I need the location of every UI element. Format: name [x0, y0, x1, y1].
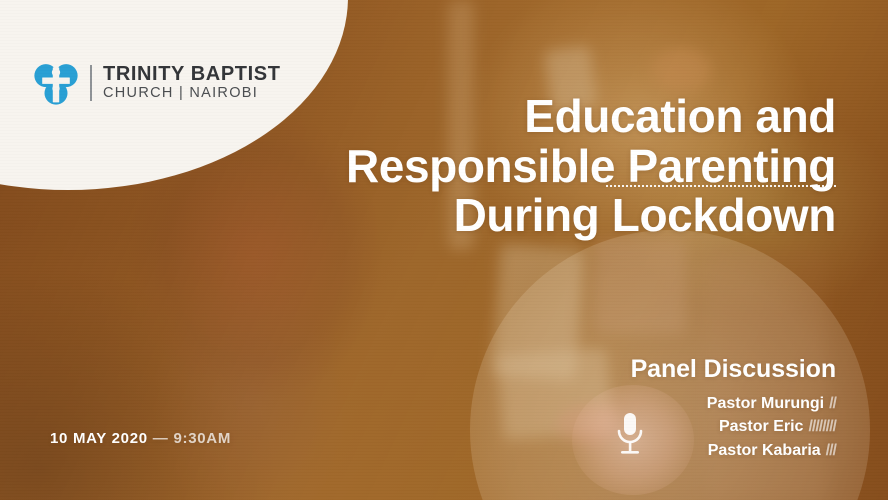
microphone-icon	[613, 410, 647, 458]
logo-divider	[90, 65, 92, 101]
event-title-line-3: During Lockdown	[196, 191, 836, 241]
panel-speaker-row: Pastor Murungi//	[707, 392, 836, 415]
panel-speaker-name: Pastor Murungi	[707, 395, 824, 412]
event-poster: TRINITY BAPTIST CHURCH | NAIROBI Educati…	[0, 0, 888, 500]
panel-speaker-slashes: ////////	[808, 418, 836, 435]
panel-speaker-name: Pastor Eric	[719, 418, 803, 435]
event-title-line-2: Responsible Parenting	[196, 142, 836, 192]
event-date: 10 MAY 2020	[50, 430, 148, 447]
datetime-separator: —	[153, 430, 169, 447]
event-title: Education and Responsible Parenting Duri…	[196, 92, 836, 241]
panel-speaker-list: Pastor Murungi// Pastor Eric//////// Pas…	[707, 392, 836, 462]
panel-speaker-name: Pastor Kabaria	[708, 442, 821, 459]
event-datetime: 10 MAY 2020—9:30AM	[50, 430, 231, 447]
event-time: 9:30AM	[173, 430, 231, 447]
brand-name-primary: TRINITY BAPTIST	[103, 64, 281, 85]
panel-speaker-row: Pastor Kabaria///	[707, 439, 836, 462]
title-underline-rule	[606, 185, 836, 187]
panel-speaker-slashes: ///	[826, 442, 836, 459]
panel-speaker-slashes: //	[829, 395, 836, 412]
panel-section-title: Panel Discussion	[631, 355, 836, 384]
event-title-line-1: Education and	[196, 92, 836, 142]
panel-speaker-row: Pastor Eric////////	[707, 415, 836, 438]
trinity-three-circles-cross-icon	[33, 60, 79, 106]
